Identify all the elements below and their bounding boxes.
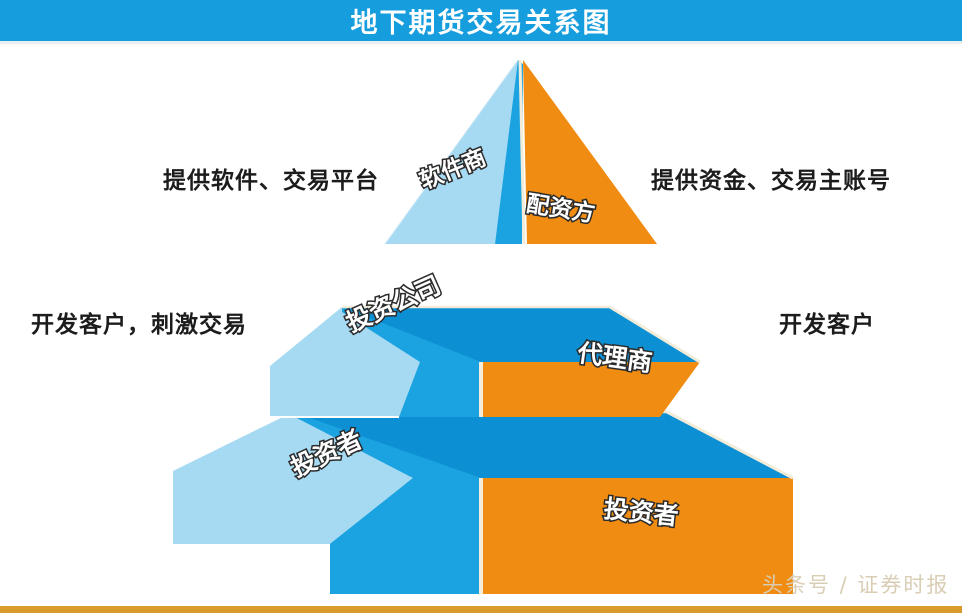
caption-top-right: 提供资金、交易主账号 — [651, 161, 891, 195]
caption-top-left: 提供软件、交易平台 — [163, 161, 379, 195]
tier3-right-label: 投资者 — [602, 489, 680, 533]
diagram-canvas: 地下期货交易关系图 — [0, 0, 962, 613]
caption-middle-left: 开发客户，刺激交易 — [31, 305, 247, 339]
page-title: 地下期货交易关系图 — [0, 0, 962, 41]
caption-middle-right: 开发客户 — [779, 305, 875, 339]
footer-bar — [0, 606, 962, 613]
watermark: 头条号 / 证券时报 — [762, 569, 949, 599]
title-bar: 地下期货交易关系图 — [0, 0, 962, 41]
